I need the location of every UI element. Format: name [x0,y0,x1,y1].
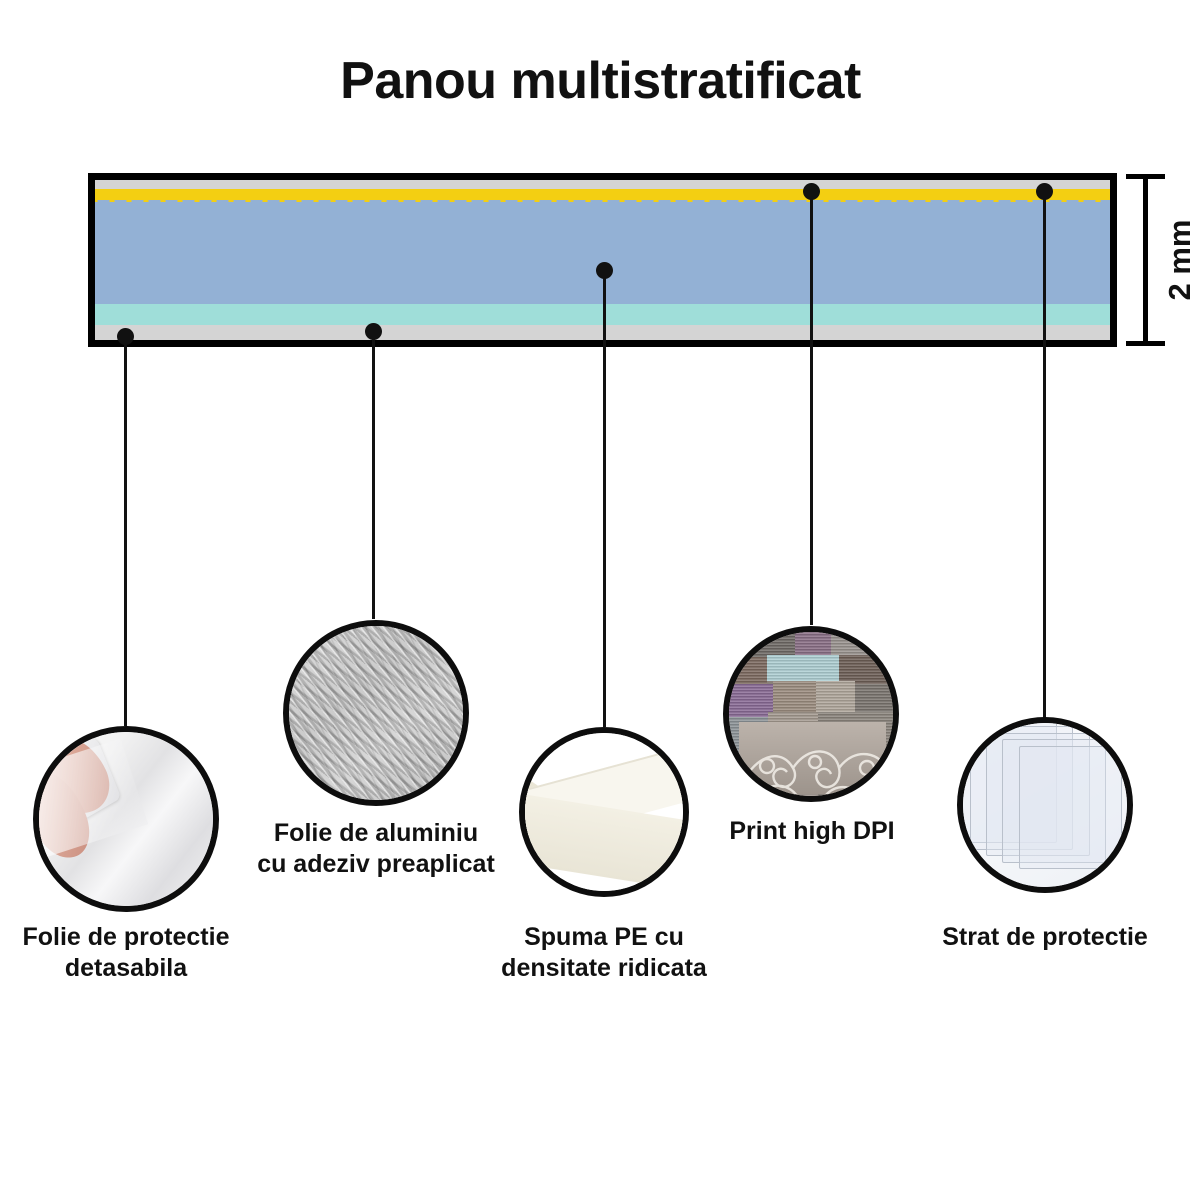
callout-label-pe-foam: Spuma PE cu densitate ridicata [478,922,730,983]
callout-label-line-1: Folie de protectie [0,922,252,953]
leader-line-pe-foam [603,270,606,727]
plank [839,655,893,685]
page-title: Panou multistratificat [0,55,1201,107]
plank [729,632,795,657]
callout-label-line-1: Spuma PE cu [478,922,730,953]
callout-label-line-2: detasabila [0,953,252,984]
leader-line-high-dpi-print [810,191,813,625]
callout-label-protective-coating: Strat de protectie [868,922,1201,953]
clear-sheet [1019,746,1123,869]
clear-sheet-stack [963,723,1127,887]
callout-image-high-dpi-print [723,626,899,802]
callout-label-high-dpi-print: Print high DPI [630,816,994,847]
callout-label-aluminium-foil: Folie de aluminiu cu adeziv preaplicat [228,818,524,879]
plank [729,657,767,685]
thickness-dimension-line [1126,173,1164,347]
callout-image-aluminium-foil [283,620,469,806]
layer-top-protective-film [95,180,1110,189]
dimension-shaft [1143,176,1148,344]
infographic-page: Panou multistratificat 2 mm Folie de [0,0,1201,1200]
callout-image-peelable-film [33,726,219,912]
finger-shape-upper [33,727,120,825]
wood-plank-print [729,632,893,796]
callout-label-line-1: Strat de protectie [868,922,1201,953]
film-photo [39,732,213,906]
leader-line-aluminium-foil [372,331,375,619]
callout-label-line-1: Print high DPI [630,816,994,847]
finger-shape-lower [33,764,99,867]
foam-block [525,733,683,891]
callout-label-line-2: cu adeziv preaplicat [228,849,524,880]
plank [773,681,816,715]
callout-label-line-2: densitate ridicata [478,953,730,984]
thickness-label: 2 mm [1160,173,1200,347]
plank [816,681,855,712]
layer-pre-applied-adhesive [95,189,1110,202]
carved-floral-ornament [739,722,887,794]
callout-label-peelable-film: Folie de protectie detasabila [0,922,252,983]
plank [729,684,773,717]
callout-image-protective-coating [957,717,1133,893]
floral-scroll-icon [739,722,887,794]
aluminium-texture [289,626,463,800]
plank [767,655,839,681]
leader-line-peelable-film [124,336,127,726]
plank [831,632,893,655]
leader-line-protective-coating [1043,191,1046,718]
callout-image-pe-foam [519,727,689,897]
callout-label-line-1: Folie de aluminiu [228,818,524,849]
